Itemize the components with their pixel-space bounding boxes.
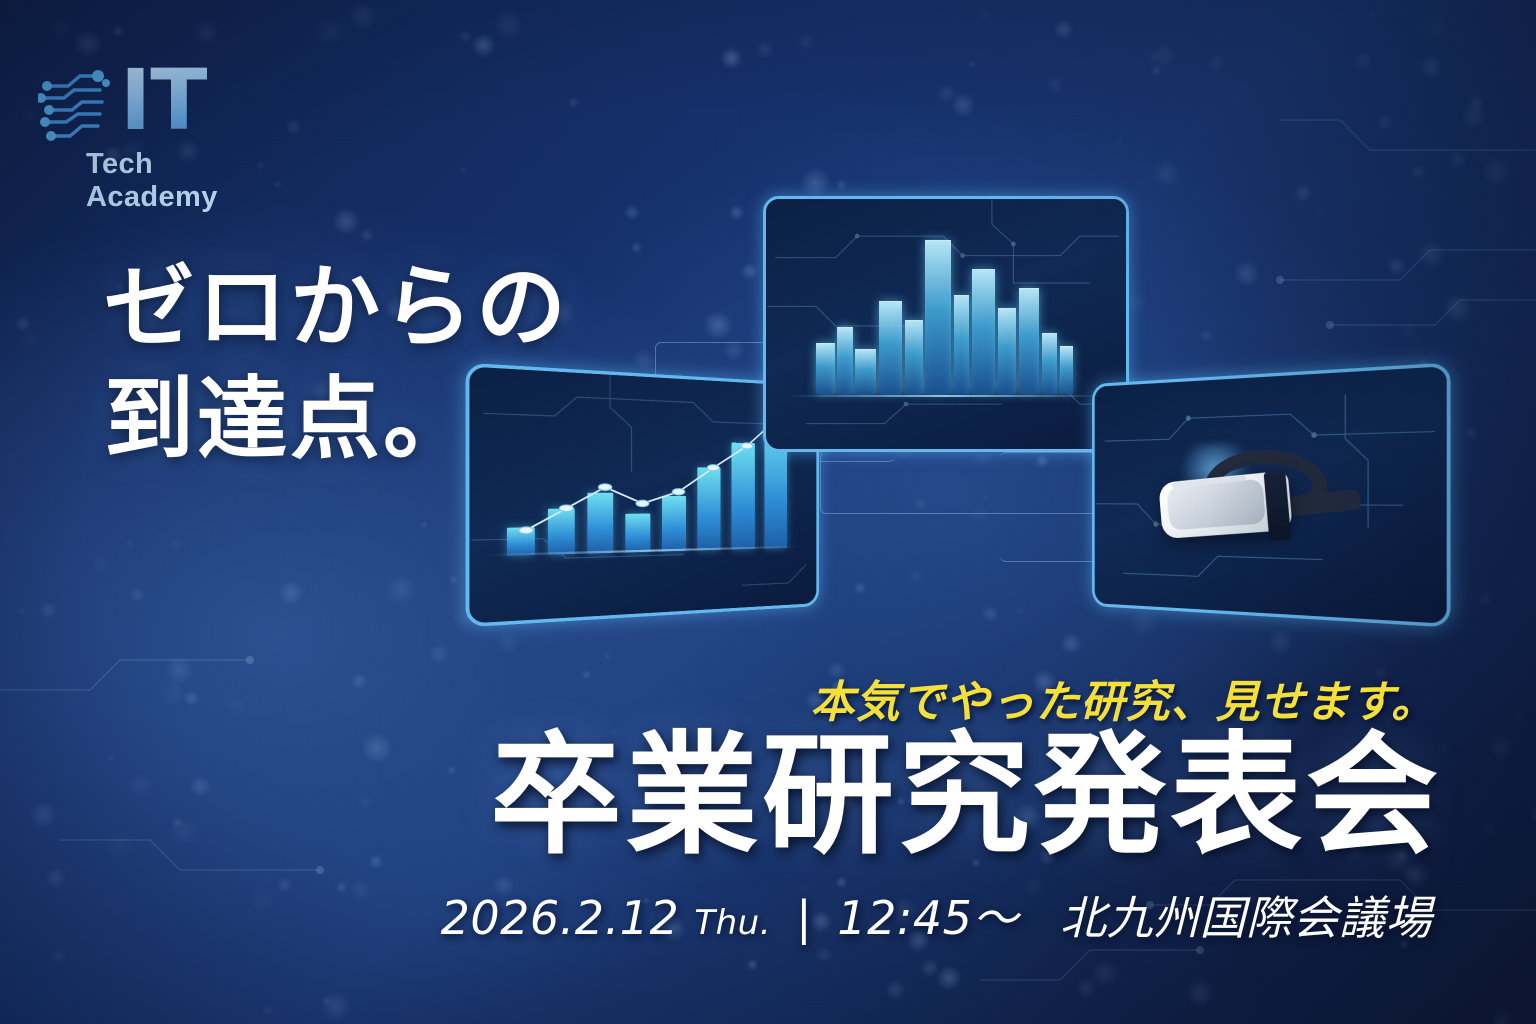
event-time: 12:45〜 (837, 891, 1019, 945)
city-tower (855, 349, 876, 394)
city-tower (1019, 288, 1040, 394)
city-tower (998, 308, 1016, 394)
headline-line-2: 到達点。 (104, 364, 569, 476)
panel-vr-headset[interactable] (1092, 362, 1451, 627)
city-tower (837, 327, 853, 394)
page-headline: ゼロからの 到達点。 (104, 252, 569, 475)
panel-smart-city[interactable] (763, 196, 1129, 452)
city-tower (972, 269, 995, 394)
city-tower (954, 295, 970, 394)
panel-connector-bottom (820, 452, 1120, 514)
detail-separator: | (796, 891, 812, 945)
city-ground-line (788, 395, 1105, 397)
city-tower (1060, 346, 1073, 394)
city-tower (816, 343, 834, 394)
event-weekday: Thu. (694, 903, 771, 943)
event-venue: 北九州国際会議場 (1060, 891, 1432, 945)
city-tower (925, 240, 951, 394)
vr-headset-icon (1153, 438, 1370, 562)
vr-headset-scene (1095, 366, 1447, 624)
city-tower (879, 301, 902, 394)
main-title: 卒業研究発表会 (490, 728, 1442, 865)
city-skyline (816, 234, 1075, 394)
city-tower (1042, 333, 1058, 394)
smart-city-hologram (766, 199, 1126, 449)
event-details: 2026.2.12 Thu. | 12:45〜 北九州国際会議場 (441, 882, 1432, 948)
headline-line-1: ゼロからの (104, 252, 569, 364)
event-date: 2026.2.12 (441, 891, 680, 945)
event-poster: IT Tech Academy ゼロからの 到達点。 (0, 0, 1536, 1024)
city-tower (905, 320, 923, 394)
